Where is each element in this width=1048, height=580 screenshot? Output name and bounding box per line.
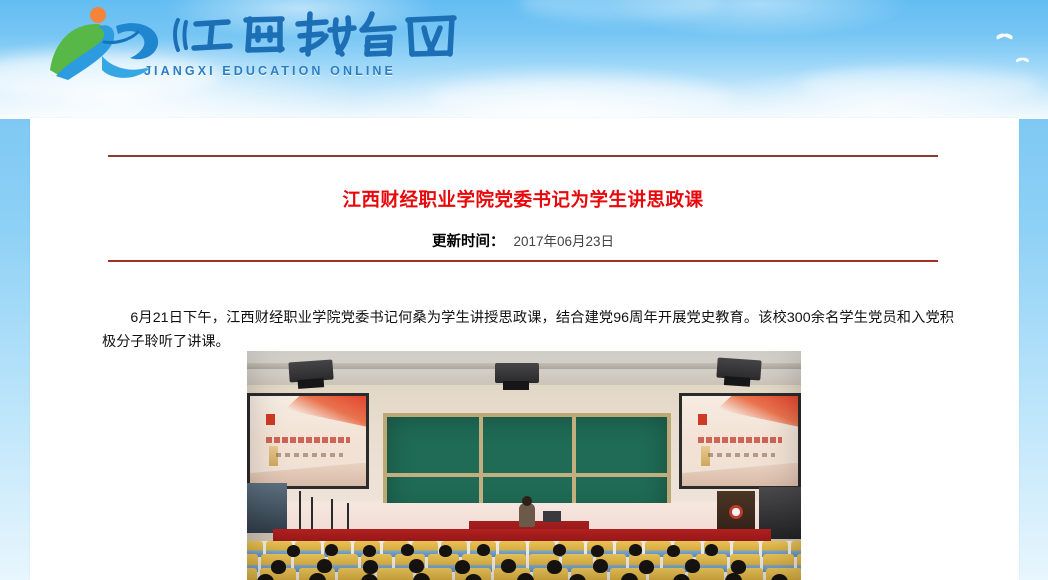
photo-laptop bbox=[543, 511, 561, 522]
slide-flag-graphic bbox=[285, 396, 366, 427]
blackboard-divider-h bbox=[387, 473, 667, 477]
student-head bbox=[501, 559, 516, 573]
article-photo bbox=[247, 351, 801, 580]
photo-audience bbox=[247, 541, 801, 580]
update-time-label: 更新时间： bbox=[432, 234, 505, 250]
ceiling-projector-left bbox=[288, 359, 333, 382]
student-head bbox=[639, 560, 654, 574]
page-root: JIANGXI EDUCATION ONLINE 江西财经职业学院党委书记为学生… bbox=[0, 0, 1048, 580]
logo-chinese-wordmark bbox=[170, 6, 470, 64]
cloud-decoration bbox=[800, 66, 1040, 104]
student-head bbox=[271, 560, 286, 574]
photo-speaker-person bbox=[519, 503, 535, 527]
student-head bbox=[629, 544, 642, 556]
site-header-banner: JIANGXI EDUCATION ONLINE bbox=[0, 0, 1048, 119]
student-head bbox=[287, 545, 300, 557]
student-head bbox=[593, 559, 608, 573]
photo-equipment-rack-left bbox=[247, 483, 287, 533]
student-head bbox=[439, 545, 452, 557]
student-head bbox=[363, 545, 376, 557]
student-head bbox=[731, 560, 746, 574]
article-meta: 更新时间：2017年06月23日 bbox=[108, 230, 938, 251]
cloud-decoration bbox=[430, 78, 730, 118]
logo-tagline: JIANGXI EDUCATION ONLINE bbox=[144, 64, 396, 78]
projection-screen-right bbox=[679, 393, 801, 489]
ceiling-projector-center bbox=[495, 363, 539, 383]
slide-emblem bbox=[266, 414, 275, 425]
article-body: 6月21日下午，江西财经职业学院党委书记何桑为学生讲授思政课，结合建党96周年开… bbox=[102, 306, 954, 354]
student-head bbox=[317, 559, 332, 573]
slide-subtitle-line bbox=[276, 453, 343, 457]
update-time-value: 2017年06月23日 bbox=[513, 234, 614, 249]
seat bbox=[377, 568, 413, 580]
student-head bbox=[591, 545, 604, 557]
student-head bbox=[455, 560, 470, 574]
article-content-panel: 江西财经职业学院党委书记为学生讲思政课 更新时间：2017年06月23日 6月2… bbox=[30, 118, 1019, 580]
student-head bbox=[547, 560, 562, 574]
classroom-lecture-photo bbox=[247, 351, 801, 580]
slide-title-line bbox=[698, 437, 782, 443]
ceiling-projector-right bbox=[716, 357, 761, 380]
page-title: 江西财经职业学院党委书记为学生讲思政课 bbox=[108, 186, 938, 212]
slide-title-line bbox=[266, 437, 350, 443]
slide-flag-graphic bbox=[717, 396, 798, 427]
student-head bbox=[685, 559, 700, 573]
student-head bbox=[363, 560, 378, 574]
slide-subtitle-line bbox=[708, 453, 775, 457]
site-logo[interactable]: JIANGXI EDUCATION ONLINE bbox=[46, 4, 446, 92]
slide-emblem bbox=[698, 414, 707, 425]
student-head bbox=[477, 544, 490, 556]
blackboard-divider-v2 bbox=[572, 417, 576, 513]
projection-screen-left bbox=[247, 393, 369, 489]
student-head bbox=[409, 559, 424, 573]
divider-top bbox=[108, 155, 938, 157]
slide-floor-graphic bbox=[682, 463, 798, 486]
student-head bbox=[325, 544, 338, 556]
student-head bbox=[667, 545, 680, 557]
student-head bbox=[705, 544, 718, 556]
cloud-decoration bbox=[520, 0, 720, 20]
blackboard-divider-v1 bbox=[479, 417, 483, 513]
divider-bottom bbox=[108, 260, 938, 262]
student-head bbox=[553, 544, 566, 556]
student-head bbox=[401, 544, 414, 556]
seat bbox=[247, 568, 257, 580]
